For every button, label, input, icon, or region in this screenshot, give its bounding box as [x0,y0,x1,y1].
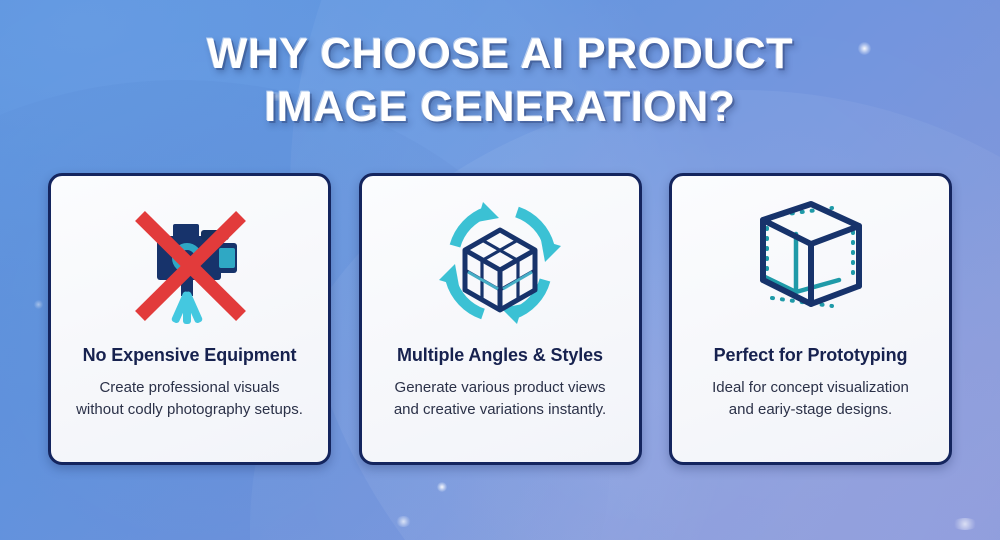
card-description: Generate various product views and creat… [380,377,620,421]
card-icon-slot [672,176,949,344]
page-title-line-2: IMAGE GENERATION? [0,81,1000,134]
feature-card-list: No Expensive Equipment Create profession… [48,173,952,465]
card-icon-slot [362,176,639,344]
page-title-line-1: WHY CHOOSE AI PRODUCT [0,28,1000,81]
card-icon-slot [51,176,328,344]
infographic-canvas: WHY CHOOSE AI PRODUCT IMAGE GENERATION? [0,0,1000,540]
background-particle [396,516,411,527]
rotating-cube-icon [425,188,575,338]
card-description-line-2: without codly photography setups. [76,399,303,421]
feature-card-perfect-for-prototyping[interactable]: Perfect for Prototyping Ideal for concep… [669,173,952,465]
feature-card-no-expensive-equipment[interactable]: No Expensive Equipment Create profession… [48,173,331,465]
background-particle [952,518,978,530]
background-particle [34,300,43,309]
card-description: Ideal for concept visualization and eari… [698,377,923,421]
card-title: No Expensive Equipment [83,344,297,366]
card-description-line-1: Generate various product views [394,377,606,399]
card-description: Create professional visuals without codl… [62,377,317,421]
card-title: Multiple Angles & Styles [397,344,603,366]
feature-card-multiple-angles-styles[interactable]: Multiple Angles & Styles Generate variou… [359,173,642,465]
card-description-line-1: Create professional visuals [76,377,303,399]
card-title: Perfect for Prototyping [714,344,908,366]
card-description-line-1: Ideal for concept visualization [712,377,909,399]
card-description-line-2: and creative variations instantly. [394,399,606,421]
no-camera-icon [115,188,265,338]
page-title: WHY CHOOSE AI PRODUCT IMAGE GENERATION? [0,28,1000,134]
wireframe-box-icon [736,188,886,338]
card-description-line-2: and eariy-stage designs. [712,399,909,421]
background-particle [437,482,447,492]
